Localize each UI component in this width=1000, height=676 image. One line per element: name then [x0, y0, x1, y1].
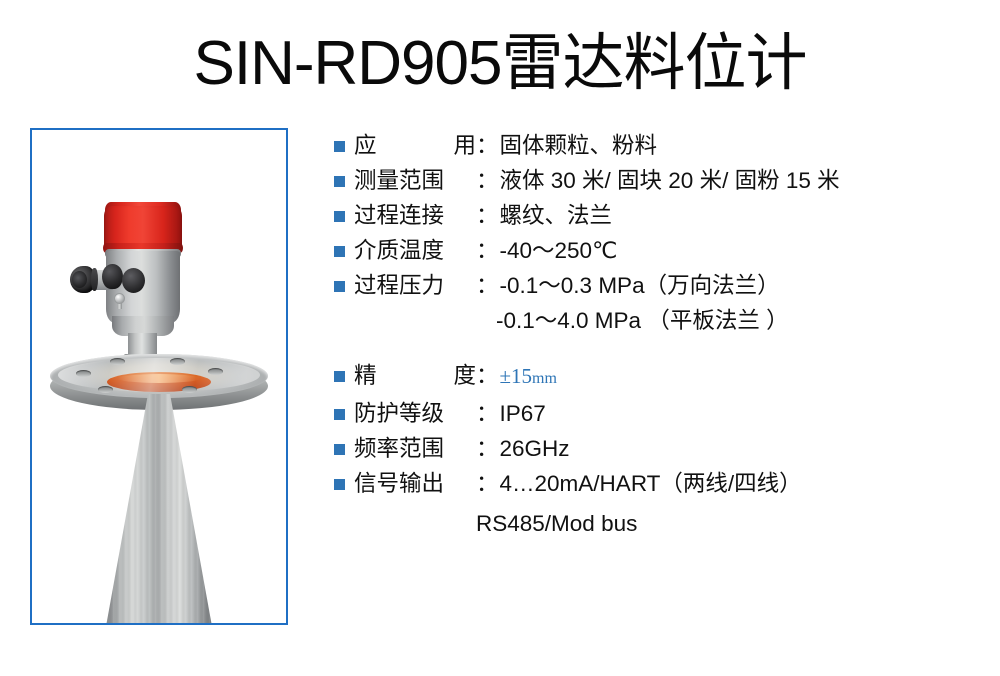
bullet-square-icon: [334, 479, 345, 490]
cable-gland-face: [72, 271, 87, 288]
spec-value: -40～250℃: [500, 235, 618, 267]
spec-row-application: 应 用 ： 固体颗粒、粉料: [334, 130, 974, 162]
product-image-frame: [30, 128, 288, 625]
spec-label: 应 用: [354, 130, 476, 162]
flange-bolt-hole: [208, 368, 223, 375]
flange-bolt-hole: [182, 386, 197, 393]
bullet-square-icon: [334, 246, 345, 257]
accuracy-unit: mm: [532, 370, 557, 387]
spec-colon: ：: [476, 360, 499, 392]
spec-colon: ：: [476, 235, 499, 267]
spec-label-part-b: 用: [453, 130, 476, 162]
spec-value: 液体 30 米/ 固块 20 米/ 固粉 15 米: [500, 165, 840, 197]
spec-label-part-a: 精: [354, 360, 377, 392]
bullet-square-icon: [334, 281, 345, 292]
spec-label-part-a: 应: [354, 130, 377, 162]
ground-screw: [114, 293, 125, 304]
accuracy-number: ±15: [500, 364, 533, 388]
cable-plug-b: [122, 268, 145, 293]
radar-level-meter-illustration: [32, 130, 286, 623]
specification-list: 应 用 ： 固体颗粒、粉料 测量范围 ： 液体 30 米/ 固块 20 米/ 固…: [334, 130, 974, 543]
spec-colon: ：: [476, 468, 499, 500]
flange-bolt-hole: [98, 386, 113, 393]
spec-label: 过程压力: [354, 270, 476, 302]
spec-row-signal-output-line2: RS485/Mod bus: [334, 508, 974, 540]
spec-group-separator: [334, 340, 974, 360]
flange-bolt-hole: [170, 358, 185, 365]
spec-label: 测量范围: [354, 165, 476, 197]
spec-colon: ：: [476, 130, 499, 162]
spec-colon: ：: [476, 270, 499, 302]
spec-value: 固体颗粒、粉料: [500, 130, 658, 162]
spec-value: -0.1～4.0 MPa （平板法兰 ）: [496, 305, 789, 337]
bullet-square-icon: [334, 409, 345, 420]
spec-colon: ：: [476, 398, 499, 430]
spec-row-process-connection: 过程连接 ： 螺纹、法兰: [334, 200, 974, 232]
page-title: SIN-RD905雷达料位计: [0, 28, 1000, 100]
bullet-square-icon: [334, 176, 345, 187]
bullet-square-icon: [334, 444, 345, 455]
spec-row-medium-temperature: 介质温度 ： -40～250℃: [334, 235, 974, 267]
spec-value: IP67: [500, 398, 546, 430]
spec-row-protection-class: 防护等级 ： IP67: [334, 398, 974, 430]
horn-brushed-texture: [101, 394, 217, 625]
spec-row-process-pressure-line2: -0.1～4.0 MPa （平板法兰 ）: [334, 305, 974, 337]
product-spec-sheet: SIN-RD905雷达料位计: [0, 0, 1000, 676]
spec-colon: ：: [476, 165, 499, 197]
spec-colon: ：: [476, 200, 499, 232]
spec-label: 精 度: [354, 360, 476, 392]
spec-row-process-pressure: 过程压力 ： -0.1～0.3 MPa（万向法兰）: [334, 270, 974, 302]
cable-gland-ring: [91, 268, 98, 291]
spec-row-accuracy: 精 度 ： ±15mm: [334, 360, 974, 395]
spec-label: 频率范围: [354, 433, 476, 465]
product-photo: [32, 130, 286, 623]
spec-colon: ：: [476, 433, 499, 465]
spec-value-accuracy: ±15mm: [500, 360, 557, 395]
spec-value: 4…20mA/HART（两线/四线）: [500, 468, 802, 500]
spec-row-measuring-range: 测量范围 ： 液体 30 米/ 固块 20 米/ 固粉 15 米: [334, 165, 974, 197]
flange-bolt-hole: [76, 370, 91, 377]
spec-label: 介质温度: [354, 235, 476, 267]
spec-label-part-b: 度: [453, 360, 476, 392]
bullet-square-icon: [334, 141, 345, 152]
spec-label: 防护等级: [354, 398, 476, 430]
spec-label: 信号输出: [354, 468, 476, 500]
spec-value: -0.1～0.3 MPa（万向法兰）: [500, 270, 780, 302]
flange-bolt-hole: [110, 358, 125, 365]
spec-row-signal-output: 信号输出 ： 4…20mA/HART（两线/四线）: [334, 468, 974, 500]
spec-label: 过程连接: [354, 200, 476, 232]
spec-value: RS485/Mod bus: [476, 508, 637, 540]
spec-value: 26GHz: [500, 433, 570, 465]
cable-plug-a: [102, 264, 123, 289]
bullet-square-icon: [334, 371, 345, 382]
spec-row-frequency-range: 频率范围 ： 26GHz: [334, 433, 974, 465]
bullet-square-icon: [334, 211, 345, 222]
spec-value: 螺纹、法兰: [500, 200, 613, 232]
